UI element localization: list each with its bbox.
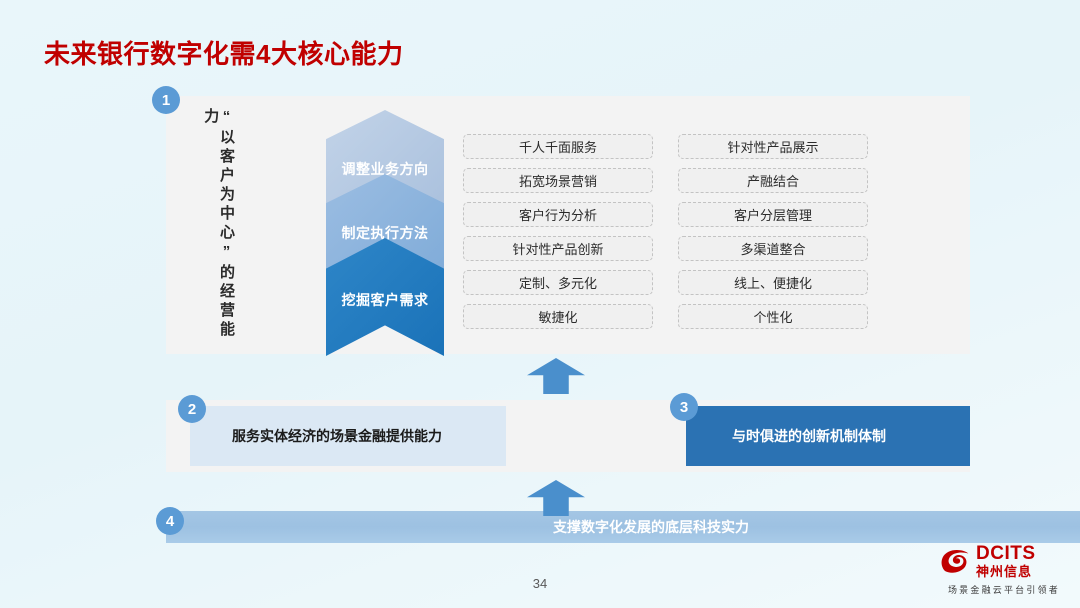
badge-section-4: 4 <box>156 507 184 535</box>
pill-item[interactable]: 敏捷化 <box>463 304 653 329</box>
section-two-three-panel: 服务实体经济的场景金融提供能力 与时俱进的创新机制体制 <box>166 400 970 472</box>
pill-item[interactable]: 客户分层管理 <box>678 202 868 227</box>
badge-section-1: 1 <box>152 86 180 114</box>
pill-item[interactable]: 客户行为分析 <box>463 202 653 227</box>
pill-item[interactable]: 个性化 <box>678 304 868 329</box>
badge-section-3: 3 <box>670 393 698 421</box>
pill-item[interactable]: 定制、多元化 <box>463 270 653 295</box>
pill-item[interactable]: 线上、便捷化 <box>678 270 868 295</box>
pill-column-left: 千人千面服务 拓宽场景营销 客户行为分析 针对性产品创新 定制、多元化 敏捷化 <box>463 134 653 329</box>
page-title: 未来银行数字化需4大核心能力 <box>44 34 403 71</box>
core-capability-vertical-label: “以客户为中心”的经营能力 <box>200 108 234 344</box>
pill-item[interactable]: 多渠道整合 <box>678 236 868 261</box>
arrow-up-icon <box>527 358 585 394</box>
pill-column-right: 针对性产品展示 产融结合 客户分层管理 多渠道整合 线上、便捷化 个性化 <box>678 134 868 329</box>
block-technology-foundation[interactable]: 支撑数字化发展的底层科技实力 <box>166 511 1080 543</box>
chevron-stack: 调整业务方向 制定执行方法 挖掘客户需求 <box>326 110 444 348</box>
badge-section-2: 2 <box>178 395 206 423</box>
section-one-panel: “以客户为中心”的经营能力 调整业务方向 制定执行方法 挖掘客户需求 千人千面服… <box>166 96 970 354</box>
company-logo: DCITS 神州信息 场景金融云平台引领者 <box>938 544 1070 602</box>
logo-tagline: 场景金融云平台引领者 <box>938 583 1070 596</box>
block-scenario-finance-capability[interactable]: 服务实体经济的场景金融提供能力 <box>190 406 506 466</box>
pill-item[interactable]: 拓宽场景营销 <box>463 168 653 193</box>
pill-item[interactable]: 针对性产品展示 <box>678 134 868 159</box>
page-number: 34 <box>0 576 1080 591</box>
pill-item[interactable]: 千人千面服务 <box>463 134 653 159</box>
dcits-swirl-icon <box>938 546 972 576</box>
pill-item[interactable]: 针对性产品创新 <box>463 236 653 261</box>
logo-name-cn: 神州信息 <box>976 565 1036 578</box>
logo-name-en: DCITS <box>976 544 1036 563</box>
block-innovation-mechanism[interactable]: 与时俱进的创新机制体制 <box>686 406 970 466</box>
pill-item[interactable]: 产融结合 <box>678 168 868 193</box>
